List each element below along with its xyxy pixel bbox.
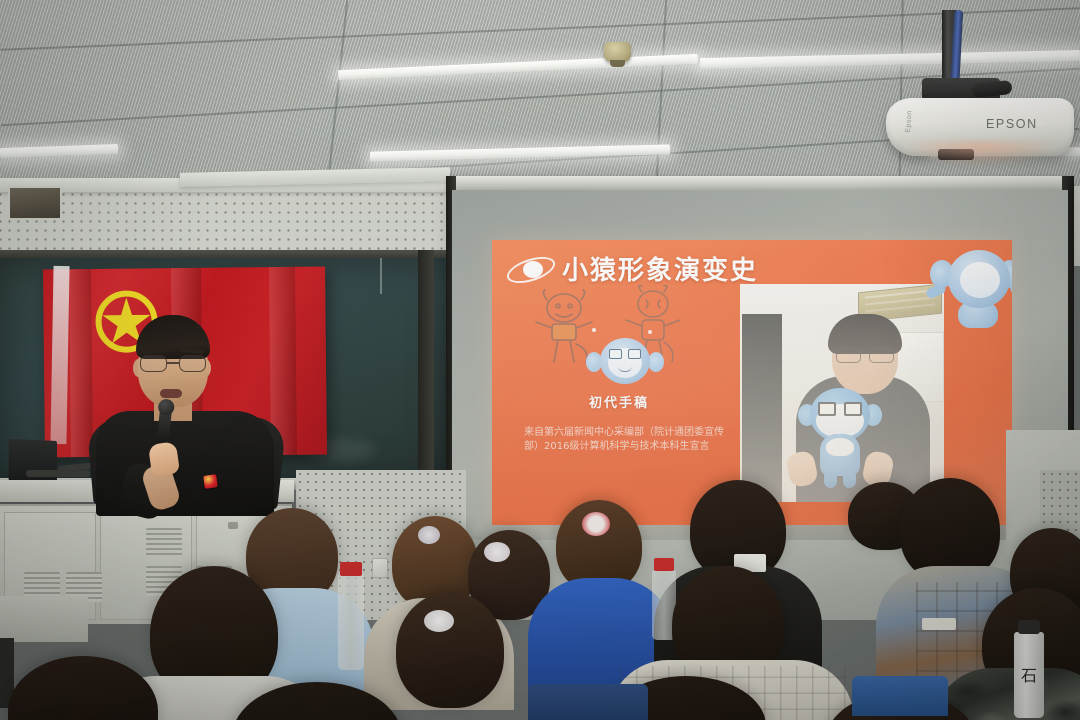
projector-light-glow bbox=[900, 142, 1060, 166]
projector-brand-label: EPSON bbox=[986, 117, 1038, 131]
flag-hanging-strap bbox=[50, 266, 69, 444]
slide-title: 小猿形象演变史 bbox=[562, 250, 758, 287]
audience: g 石 bbox=[0, 470, 1080, 720]
wall-speaker-box bbox=[8, 186, 62, 220]
slide-credits: 来自第六届新闻中心采编部（院计通团委宣传部）2016级计算机科学与技术本科生宣言 bbox=[524, 426, 724, 454]
classroom-photo-scene: EPSON Epson bbox=[0, 0, 1080, 720]
classroom-chair[interactable] bbox=[528, 684, 648, 720]
jacket-label bbox=[922, 618, 956, 630]
hair-scrunchie bbox=[484, 542, 510, 562]
sparkle-dot bbox=[648, 330, 652, 334]
presenter-hand bbox=[148, 441, 180, 477]
bottle-cap-red bbox=[654, 558, 674, 571]
smoke-detector-icon bbox=[604, 42, 631, 62]
blackboard-hanging-wire bbox=[380, 258, 382, 294]
sparkle-dot bbox=[592, 328, 596, 332]
bottle-cap-red bbox=[340, 562, 362, 576]
video-person-glasses bbox=[836, 348, 894, 361]
audience-head bbox=[396, 592, 504, 708]
hair-clip bbox=[418, 526, 440, 544]
slide-caption: 初代手稿 bbox=[544, 392, 694, 411]
projector-side-label: Epson bbox=[905, 110, 914, 133]
perforated-wall-panel bbox=[0, 190, 448, 252]
ceiling-projector: EPSON Epson bbox=[880, 10, 1080, 170]
audience-head bbox=[8, 656, 158, 720]
bottle-label: 石 bbox=[1021, 662, 1039, 684]
blue-monkey-mascot-corner bbox=[936, 246, 1012, 332]
yuanfudao-planet-logo-icon bbox=[506, 256, 558, 284]
refined-monkey-mascot bbox=[588, 336, 662, 388]
lapel-pin-badge bbox=[203, 474, 218, 489]
classroom-chair[interactable] bbox=[852, 676, 948, 716]
bottle-cap-black bbox=[1018, 620, 1040, 634]
presenter-glasses bbox=[140, 355, 206, 372]
water-bottle bbox=[338, 574, 364, 670]
presenter-mouth bbox=[160, 389, 182, 398]
hair-scrunchie bbox=[424, 610, 454, 632]
hair-scrunchie-red bbox=[582, 512, 610, 536]
blackboard-edge bbox=[418, 250, 434, 492]
